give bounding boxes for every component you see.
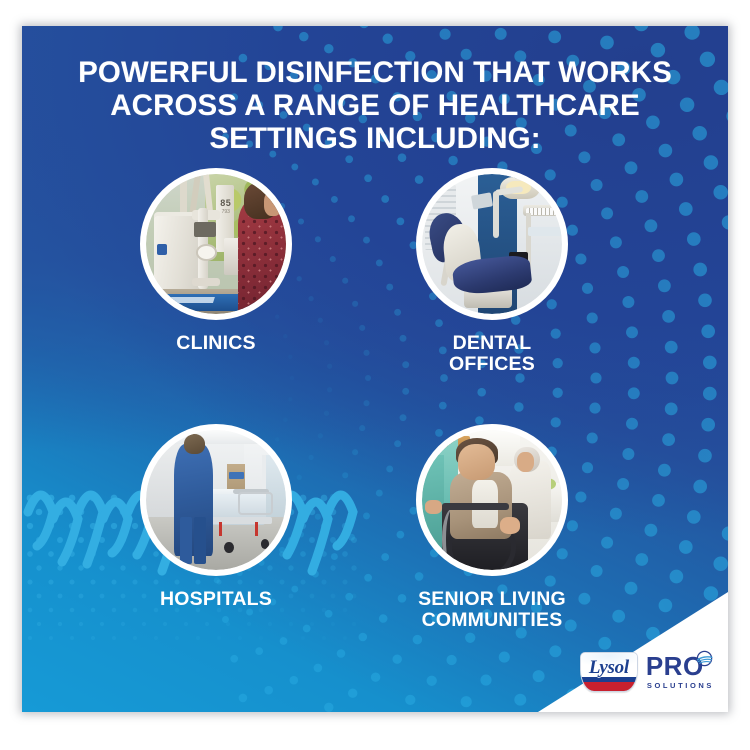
tile-label-hospitals: HOSPITALS [140, 589, 292, 610]
tile-label-clinics: CLINICS [140, 333, 292, 354]
setting-tile-hospitals: HOSPITALS [140, 424, 292, 610]
lysol-wordmark: Lysol [580, 652, 638, 692]
poster-artboard: POWERFUL DISINFECTION THAT WORKS ACROSS … [22, 26, 728, 712]
solutions-wordmark: SOLUTIONS [646, 681, 714, 691]
tile-label-dental-offices: DENTAL OFFICES [416, 333, 568, 375]
poster-page: POWERFUL DISINFECTION THAT WORKS ACROSS … [0, 0, 750, 750]
brand-logo-lockup: Lysol PRO SOLUTIONS [580, 652, 714, 692]
hospital-photo [146, 430, 286, 570]
senior-living-photo [422, 430, 562, 570]
pro-wordmark: PRO [646, 654, 704, 679]
clinic-photo-ring: 85 793 [140, 168, 292, 320]
setting-tile-clinics: 85 793 [140, 168, 292, 354]
headline-line-2: ACROSS A RANGE OF HEALTHCARE [46, 89, 704, 122]
globe-swoosh-icon [696, 650, 713, 667]
dental-office-photo-ring [416, 168, 568, 320]
hospital-photo-ring [140, 424, 292, 576]
dental-office-photo [422, 174, 562, 314]
pro-solutions-logo: PRO SOLUTIONS [646, 654, 714, 691]
senior-living-photo-ring [416, 424, 568, 576]
setting-tile-dental-offices: DENTAL OFFICES [416, 168, 568, 375]
lysol-logo: Lysol [580, 652, 638, 692]
headline-line-3: SETTINGS INCLUDING: [46, 122, 704, 155]
clinic-photo: 85 793 [146, 174, 286, 314]
page-title: POWERFUL DISINFECTION THAT WORKS ACROSS … [22, 56, 728, 155]
headline-line-1: POWERFUL DISINFECTION THAT WORKS [46, 56, 704, 89]
